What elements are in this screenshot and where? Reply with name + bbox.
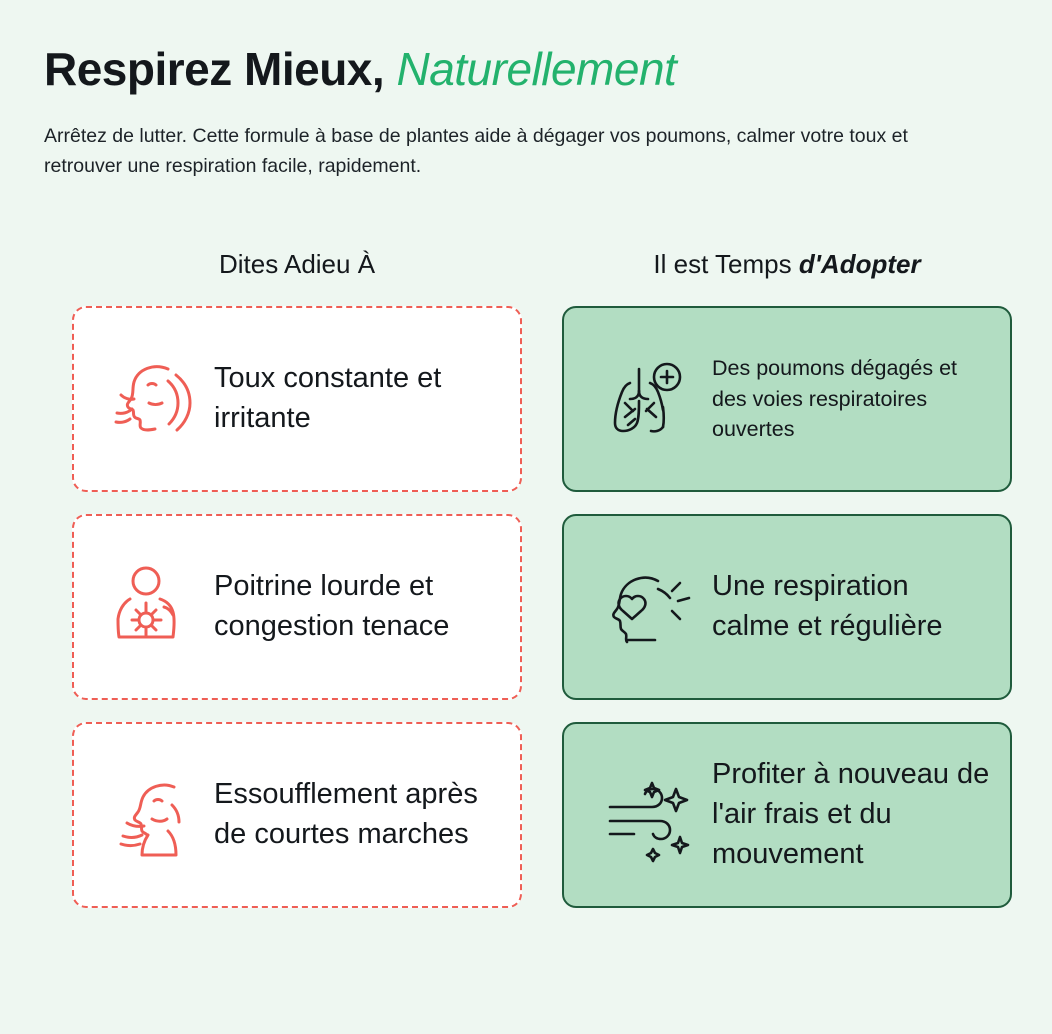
benefit-card-fresh-air-text: Profiter à nouveau de l'air frais et du … [712, 755, 992, 874]
benefit-card-calm-breathing-text: Une respiration calme et régulière [712, 567, 992, 646]
benefits-column: Des poumons dégagés et des voies respira… [562, 306, 1012, 908]
breathless-person-icon [94, 763, 214, 867]
calm-breathing-icon [582, 555, 712, 659]
problem-card-cough: Toux constante et irritante [72, 306, 522, 492]
benefit-card-calm-breathing: Une respiration calme et régulière [562, 514, 1012, 700]
page-title-accent: Naturellement [396, 43, 676, 95]
page-subtitle: Arrêtez de lutter. Cette formule à base … [44, 121, 974, 181]
infographic-page: Respirez Mieux, Naturellement Arrêtez de… [0, 0, 1052, 1034]
coughing-person-icon [94, 347, 214, 451]
problem-card-cough-text: Toux constante et irritante [214, 359, 500, 438]
column-heading-problems: Dites Adieu À [72, 249, 522, 280]
problems-column: Toux constante et irritante Poitrine lou… [72, 306, 522, 908]
page-title: Respirez Mieux, Naturellement [44, 44, 1012, 95]
fresh-air-breeze-icon [582, 763, 712, 867]
column-heading-benefits-plain: Il est Temps [653, 249, 798, 279]
problem-card-congestion: Poitrine lourde et congestion tenace [72, 514, 522, 700]
benefit-card-fresh-air: Profiter à nouveau de l'air frais et du … [562, 722, 1012, 908]
column-heading-benefits: Il est Temps d'Adopter [562, 249, 1012, 280]
problem-card-breathless: Essoufflement après de courtes marches [72, 722, 522, 908]
healthy-lungs-icon [582, 347, 712, 451]
comparison-grid: Toux constante et irritante Poitrine lou… [42, 306, 1012, 908]
problem-card-congestion-text: Poitrine lourde et congestion tenace [214, 567, 500, 646]
problem-card-breathless-text: Essoufflement après de courtes marches [214, 775, 500, 854]
benefit-card-lungs: Des poumons dégagés et des voies respira… [562, 306, 1012, 492]
chest-congestion-icon [94, 555, 214, 659]
column-heading-benefits-emphasis: d'Adopter [799, 249, 921, 279]
benefit-card-lungs-text: Des poumons dégagés et des voies respira… [712, 353, 992, 445]
column-headings: Dites Adieu À Il est Temps d'Adopter [42, 249, 1012, 280]
page-title-main: Respirez Mieux, [44, 43, 384, 95]
